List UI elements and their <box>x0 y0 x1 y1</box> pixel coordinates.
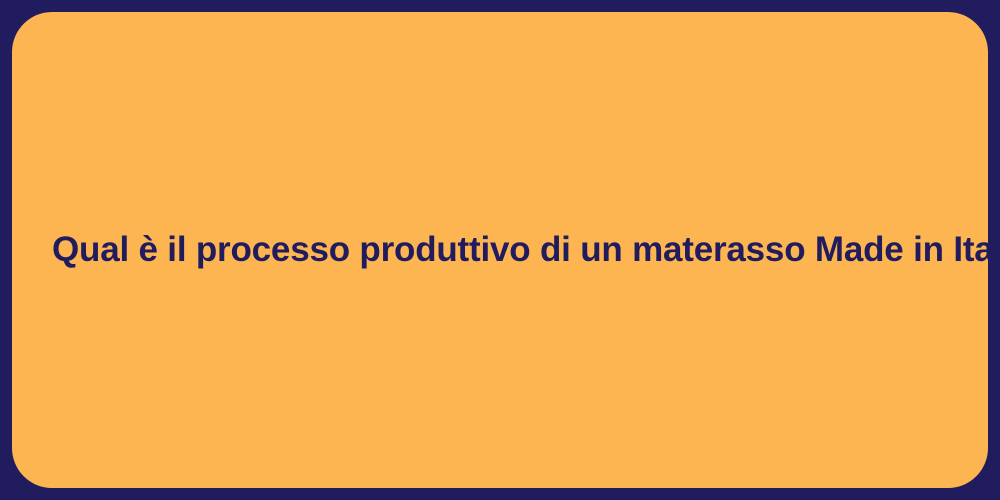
page-frame: Qual è il processo produttivo di un mate… <box>0 0 1000 500</box>
page-title: Qual è il processo produttivo di un mate… <box>52 228 948 272</box>
headline-card: Qual è il processo produttivo di un mate… <box>12 12 988 488</box>
headline-card-content: Qual è il processo produttivo di un mate… <box>52 228 948 272</box>
